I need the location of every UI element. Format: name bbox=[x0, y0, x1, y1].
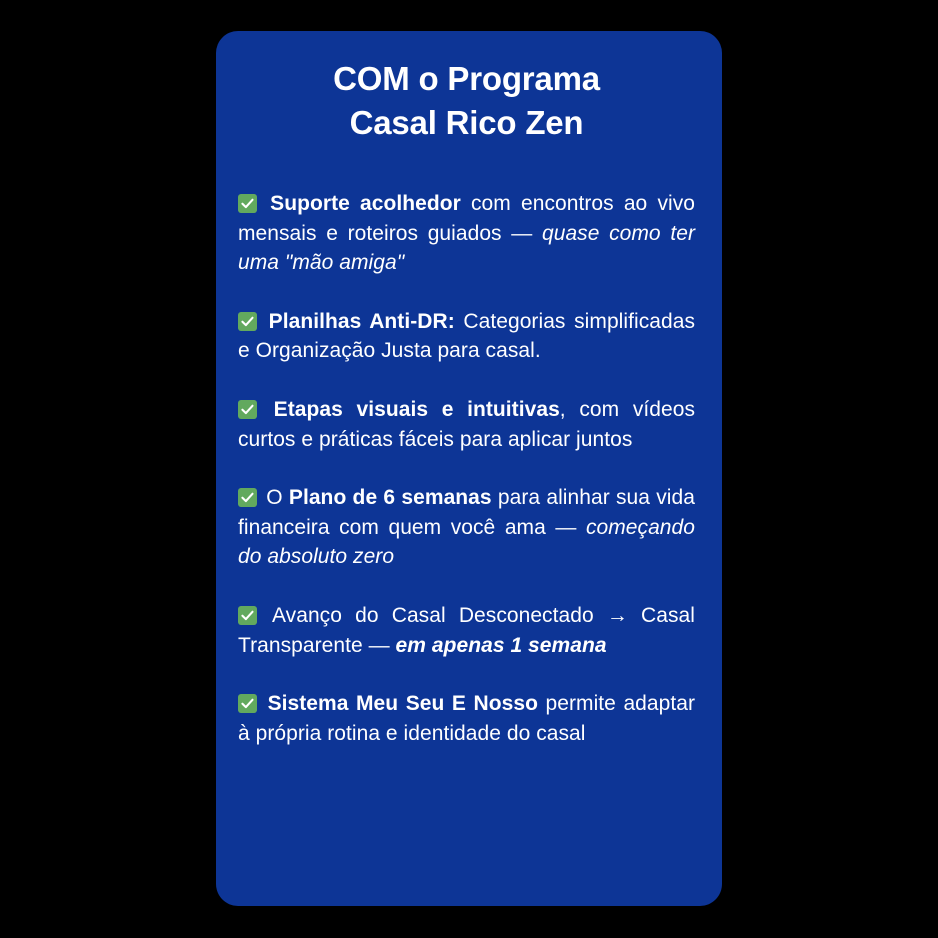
benefits-card: COM o Programa Casal Rico Zen Suporte ac… bbox=[216, 31, 722, 906]
benefit-item: Avanço do Casal Desconectado → Casal Tra… bbox=[238, 601, 695, 660]
card-title: COM o Programa Casal Rico Zen bbox=[238, 57, 695, 145]
benefit-item: Planilhas Anti-DR: Categorias simplifica… bbox=[238, 307, 695, 366]
benefits-list: Suporte acolhedor com encontros ao vivo … bbox=[238, 189, 695, 748]
benefit-text-run: O bbox=[266, 486, 289, 509]
check-mark-icon bbox=[238, 488, 257, 507]
check-mark-icon bbox=[238, 606, 257, 625]
benefit-item: O Plano de 6 semanas para alinhar sua vi… bbox=[238, 483, 695, 572]
check-mark-icon bbox=[238, 694, 257, 713]
benefit-text-run: Suporte acolhedor bbox=[270, 192, 461, 215]
benefit-text-run: Planilhas Anti-DR: bbox=[269, 310, 455, 333]
check-mark-icon bbox=[238, 312, 257, 331]
benefit-text-run: em apenas 1 semana bbox=[396, 634, 607, 657]
benefit-text-run: Plano de 6 semanas bbox=[289, 486, 492, 509]
benefit-text-run: Sistema Meu Seu E Nosso bbox=[268, 692, 538, 715]
benefit-text-run: Etapas visuais e intuitivas bbox=[274, 398, 560, 421]
check-mark-icon bbox=[238, 194, 257, 213]
card-title-line-1: COM o Programa bbox=[244, 57, 689, 101]
page-canvas: COM o Programa Casal Rico Zen Suporte ac… bbox=[0, 0, 938, 938]
benefit-item: Suporte acolhedor com encontros ao vivo … bbox=[238, 189, 695, 278]
benefit-item: Sistema Meu Seu E Nosso permite adaptar … bbox=[238, 689, 695, 748]
card-title-line-2: Casal Rico Zen bbox=[244, 101, 689, 145]
check-mark-icon bbox=[238, 400, 257, 419]
benefit-item: Etapas visuais e intuitivas, com vídeos … bbox=[238, 395, 695, 454]
